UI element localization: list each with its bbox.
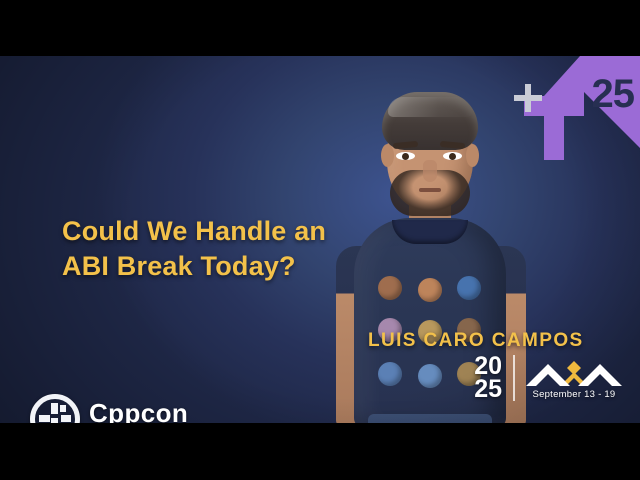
mountain-logo-icon — [526, 356, 622, 386]
badge-small-plus-icon — [512, 82, 544, 114]
video-content-area: Could We Handle an ABI Break Today? LUIS… — [0, 56, 640, 423]
talk-title-line-1: Could We Handle an — [62, 214, 326, 249]
badge-year-number: 25 — [592, 74, 635, 114]
cppcon-wordmark: Cppcon The C++ Conference — [89, 400, 188, 423]
event-year-and-dates: 20 25 September 13 - 19 — [474, 355, 622, 401]
letterbox-bottom — [0, 423, 640, 480]
talk-title-line-2: ABI Break Today? — [62, 249, 326, 284]
cppcon-logo: Cppcon The C++ Conference — [30, 394, 188, 423]
talk-title: Could We Handle an ABI Break Today? — [62, 214, 326, 283]
event-dates: September 13 - 19 — [526, 389, 622, 400]
event-year-bottom: 25 — [474, 378, 502, 401]
letterbox-top — [0, 0, 640, 56]
event-venue-lockup: September 13 - 19 — [526, 356, 622, 400]
cppcon-25-corner-badge: 25 — [488, 56, 640, 180]
video-frame-stage: Could We Handle an ABI Break Today? LUIS… — [0, 0, 640, 480]
event-year: 20 25 — [474, 355, 502, 401]
cppcon-name: Cppcon — [89, 400, 188, 423]
divider-line — [513, 355, 515, 401]
cppcon-mark-icon — [30, 394, 80, 423]
speaker-name: LUIS CARO CAMPOS — [368, 330, 584, 352]
